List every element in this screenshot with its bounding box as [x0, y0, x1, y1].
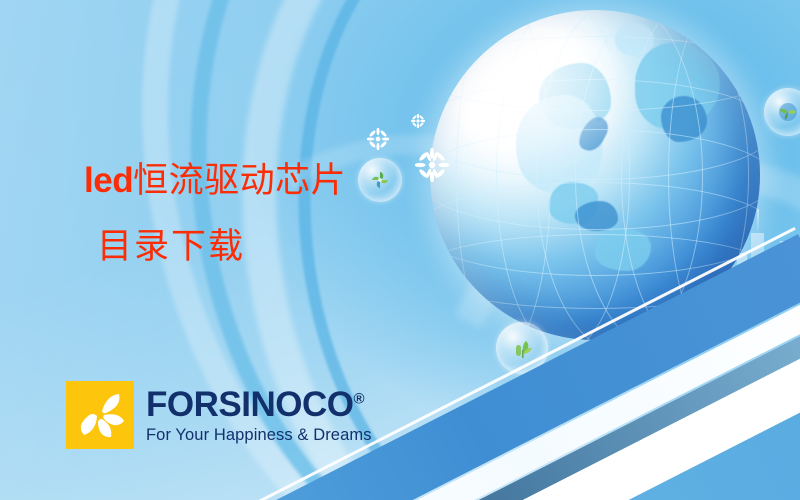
flower-asterisk-1-icon [415, 148, 449, 182]
registered-trademark-symbol: ® [353, 390, 364, 407]
four-petal-pinwheel-icon [66, 381, 134, 449]
headline-cjk-text: 恒流驱动芯片 [133, 161, 346, 200]
headline-line-1: led恒流驱动芯片 [84, 163, 346, 198]
logo-wordmark: FORSINOCO® [146, 387, 372, 422]
logo-wordmark-text: FORSINOCO [146, 385, 353, 424]
bubble-pinwheel [358, 158, 402, 202]
flower-asterisk-3-icon [411, 114, 425, 128]
headline-latin-text: led [84, 161, 133, 200]
green-leaf-icon [775, 99, 800, 125]
headline-line-2: 目录下载 [97, 229, 245, 264]
logo-tagline: For Your Happiness & Dreams [146, 427, 372, 444]
green-pinwheel-icon [369, 169, 391, 191]
flower-asterisk-2-icon [367, 128, 389, 150]
promotional-banner: led恒流驱动芯片 目录下载 FORSINOCO® For Your Happi… [0, 0, 800, 500]
brand-logo: FORSINOCO® For Your Happiness & Dreams [66, 381, 372, 449]
